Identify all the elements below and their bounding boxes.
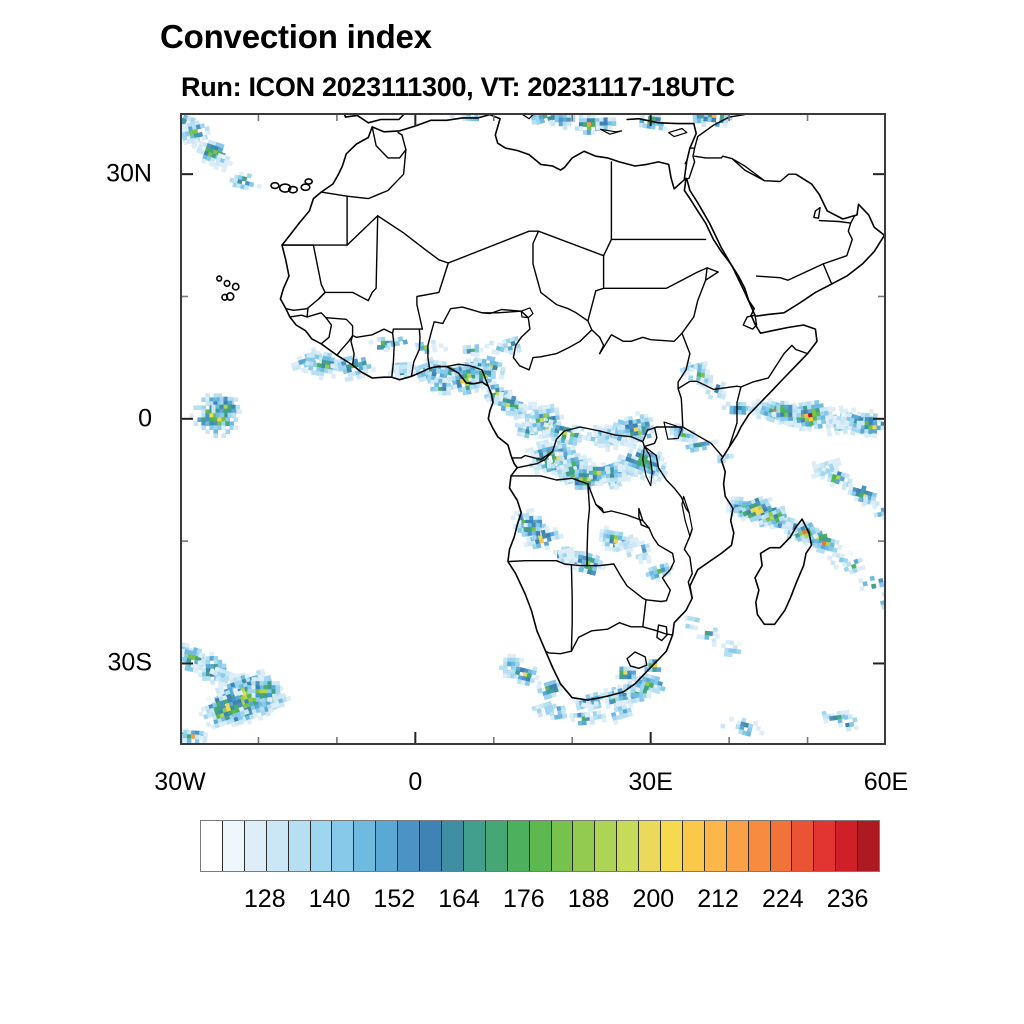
colorbar-cell — [572, 821, 594, 871]
geo-boundary — [571, 565, 572, 651]
colorbar-tick-label: 236 — [788, 885, 908, 914]
colorbar-cell — [419, 821, 441, 871]
y-tick-label: 30N — [62, 160, 152, 189]
x-tick-label: 0 — [345, 768, 485, 797]
convection-map — [180, 113, 886, 745]
colorbar-cell — [201, 821, 222, 871]
map-plot-area[interactable] — [180, 113, 886, 745]
colorbar-cell — [857, 821, 879, 871]
colorbar-cell — [485, 821, 507, 871]
colorbar-cell — [551, 821, 573, 871]
colorbar[interactable] — [200, 820, 880, 872]
colorbar-cell — [770, 821, 792, 871]
colorbar-cell — [222, 821, 244, 871]
colorbar-cell — [397, 821, 419, 871]
colorbar-cell — [507, 821, 529, 871]
colorbar-cell — [748, 821, 770, 871]
colorbar-cell — [288, 821, 310, 871]
x-tick-label: 30W — [110, 768, 250, 797]
x-tick-label: 30E — [581, 768, 721, 797]
colorbar-cell — [616, 821, 638, 871]
run-valid-time-subtitle: Run: ICON 2023111300, VT: 20231117-18UTC — [181, 72, 735, 103]
y-tick-label: 0 — [62, 404, 152, 433]
colorbar-cell — [310, 821, 332, 871]
colorbar-cell — [529, 821, 551, 871]
colorbar-cell — [463, 821, 485, 871]
y-tick-label: 30S — [62, 649, 152, 678]
page-title: Convection index — [160, 18, 432, 56]
colorbar-cell — [835, 821, 857, 871]
colorbar-cell — [441, 821, 463, 871]
colorbar-cell — [375, 821, 397, 871]
colorbar-cell — [682, 821, 704, 871]
colorbar-cell — [813, 821, 835, 871]
convection-cell-group — [471, 352, 476, 357]
colorbar-cell — [594, 821, 616, 871]
x-tick-label: 60E — [816, 768, 956, 797]
colorbar-cell — [331, 821, 353, 871]
colorbar-cell — [726, 821, 748, 871]
colorbar-cell — [704, 821, 726, 871]
colorbar-cell — [266, 821, 288, 871]
colorbar-cell — [791, 821, 813, 871]
colorbar-cell — [660, 821, 682, 871]
colorbar-cell — [353, 821, 375, 871]
colorbar-cell — [244, 821, 266, 871]
colorbar-cell — [638, 821, 660, 871]
